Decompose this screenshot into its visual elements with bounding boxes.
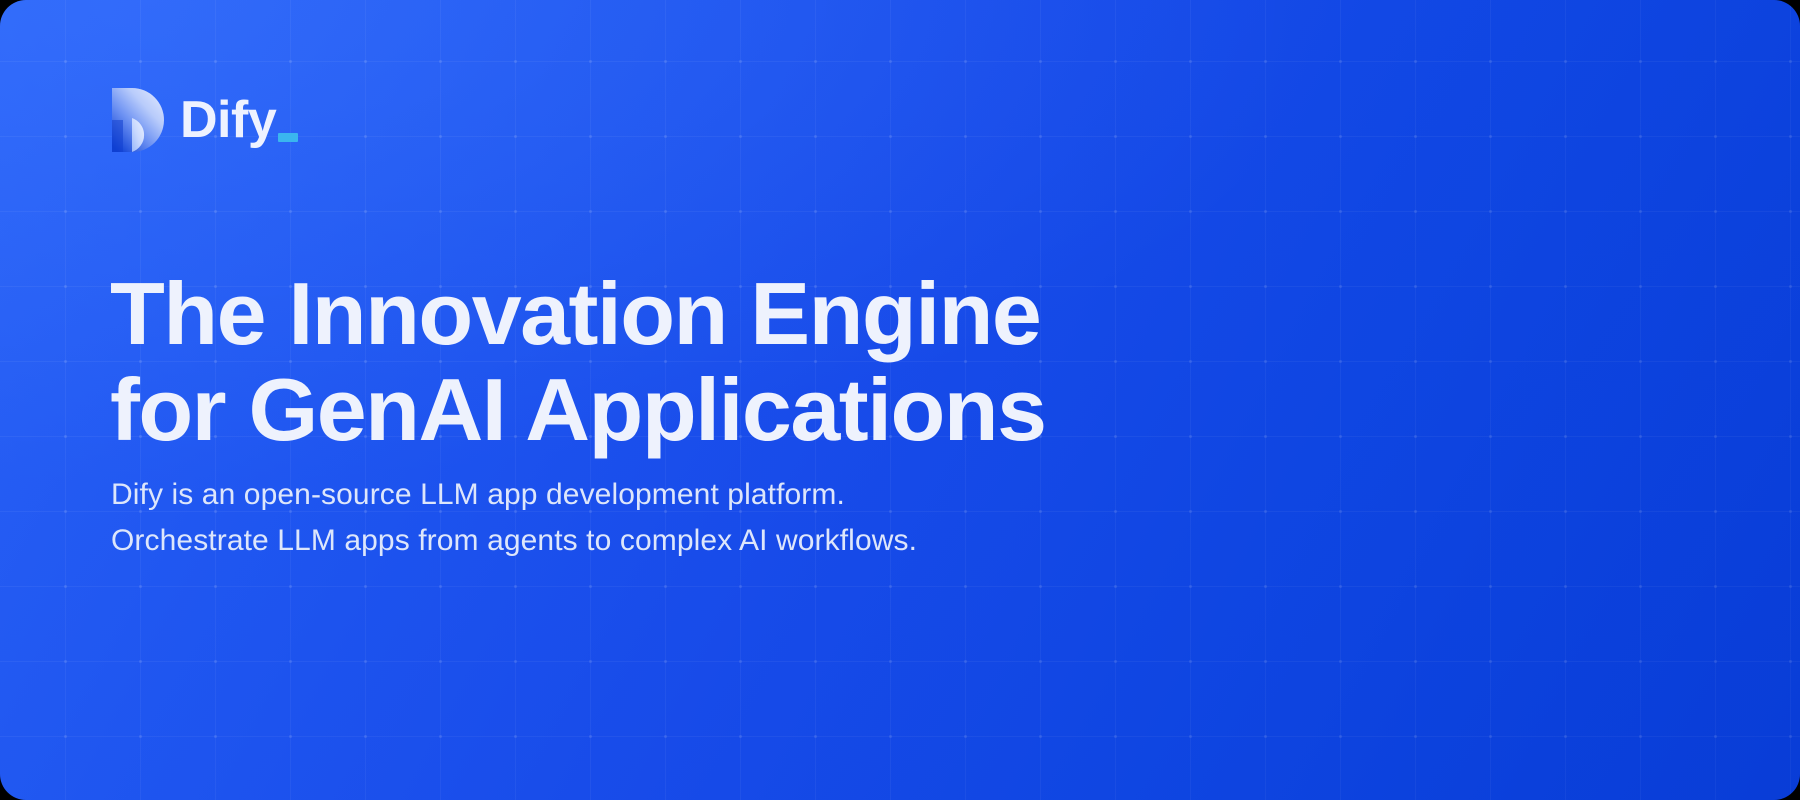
headline-line-1: The Innovation Engine <box>110 266 1385 362</box>
subtitle-line-1: Dify is an open-source LLM app developme… <box>111 472 1361 518</box>
page-subtitle: Dify is an open-source LLM app developme… <box>111 472 1361 564</box>
subtitle-line-2: Orchestrate LLM apps from agents to comp… <box>111 518 1361 564</box>
page-title: The Innovation Engine for GenAI Applicat… <box>110 266 1360 458</box>
hero-banner-card: Dify The Innovation Engine for GenAI App… <box>0 0 1800 800</box>
dify-logo-mark-icon <box>112 88 164 152</box>
brand-wordmark-wrap: Dify <box>180 94 276 146</box>
brand-wordmark: Dify <box>180 94 276 146</box>
brand-logo[interactable]: Dify <box>112 88 276 152</box>
headline-line-2: for GenAI Applications <box>110 362 1385 458</box>
brand-accent-dash-icon <box>278 133 298 142</box>
